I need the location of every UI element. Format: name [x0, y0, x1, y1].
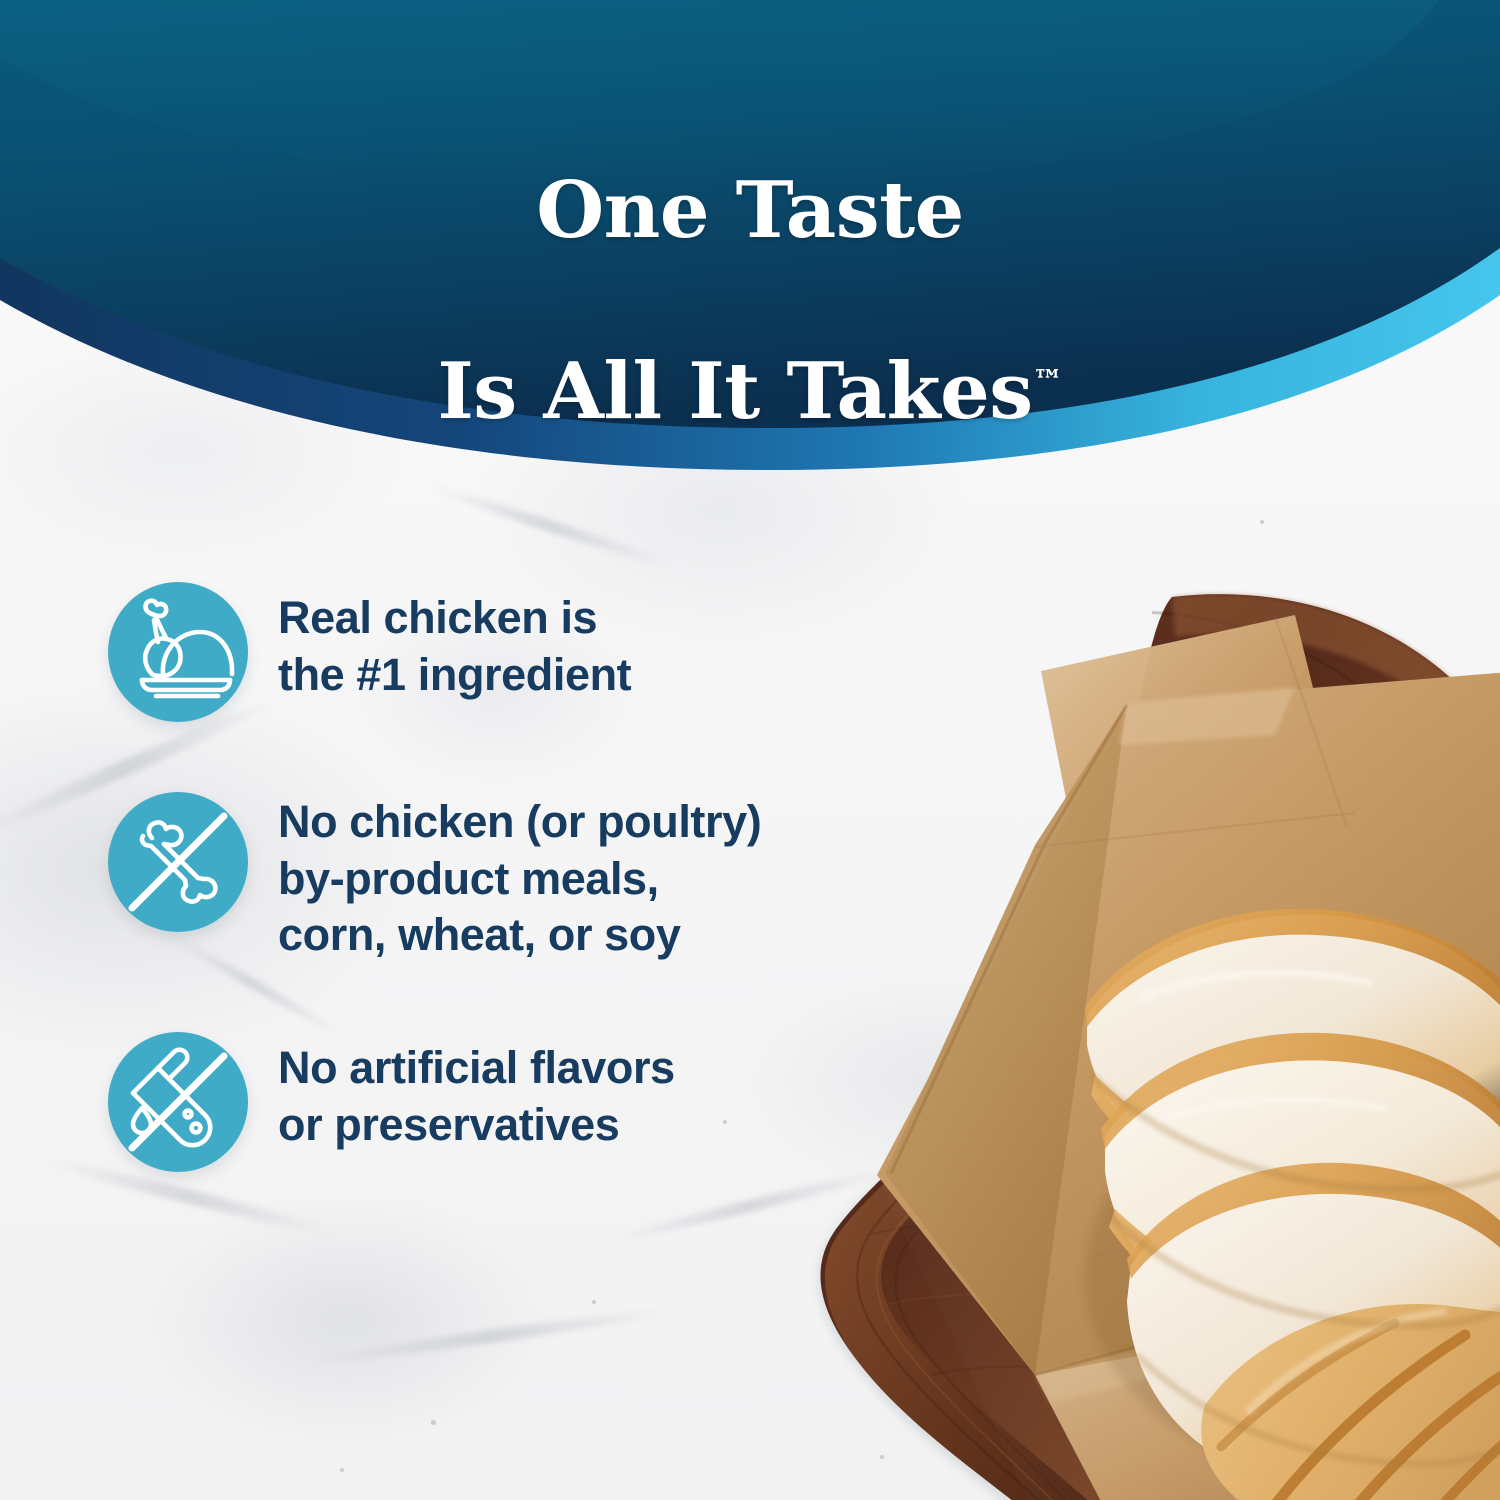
benefit-text: No chicken (or poultry) by-product meals…	[278, 792, 761, 964]
no-bone-icon	[108, 792, 248, 932]
no-test-tube-icon	[108, 1032, 248, 1172]
marble-speck	[592, 1300, 596, 1304]
trademark-symbol: ™	[1033, 364, 1063, 399]
roast-chicken-platter-icon	[108, 582, 248, 722]
benefit-item: Real chicken is the #1 ingredient	[108, 582, 631, 722]
benefit-item: No artificial flavors or preservatives	[108, 1032, 675, 1172]
benefit-text: No artificial flavors or preservatives	[278, 1032, 675, 1153]
promo-image-canvas: One Taste Is All It Takes™	[0, 0, 1500, 1500]
header-banner: One Taste Is All It Takes™	[0, 0, 1500, 470]
headline-line-2: Is All It Takes™	[0, 347, 1500, 437]
page-title: One Taste Is All It Takes™	[0, 76, 1500, 528]
marble-speck	[431, 1420, 436, 1425]
headline-line-2-text: Is All It Takes	[437, 346, 1032, 437]
benefit-text: Real chicken is the #1 ingredient	[278, 582, 631, 703]
chicken-photo	[735, 575, 1500, 1500]
marble-speck	[340, 1468, 344, 1472]
marble-speck	[723, 1120, 727, 1124]
headline-line-1: One Taste	[0, 166, 1500, 256]
benefit-item: No chicken (or poultry) by-product meals…	[108, 792, 761, 964]
